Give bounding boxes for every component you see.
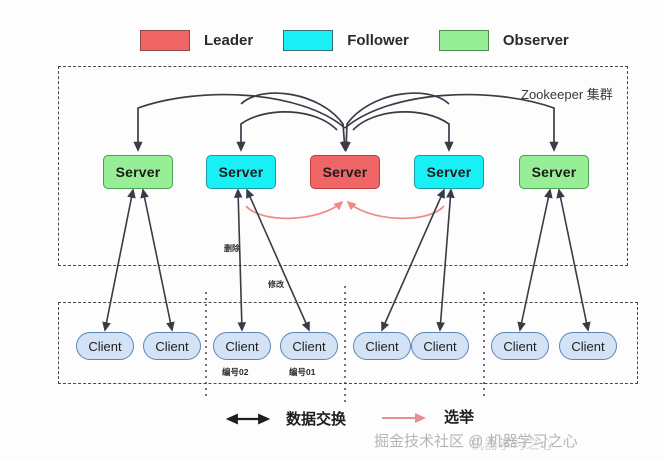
client-label: Client bbox=[225, 339, 258, 354]
double-arrow-icon bbox=[222, 412, 274, 426]
client-label: Client bbox=[423, 339, 456, 354]
legend-label-observer: Observer bbox=[503, 32, 569, 49]
server-label: Server bbox=[219, 164, 264, 180]
server-label: Server bbox=[323, 164, 368, 180]
client-node-8[interactable]: Client bbox=[559, 332, 617, 360]
diagram-canvas: Leader Follower Observer Zookeeper 集群 bbox=[0, 0, 663, 459]
server-node-observer-2[interactable]: Server bbox=[519, 155, 589, 189]
client-node-4[interactable]: Client bbox=[280, 332, 338, 360]
server-node-observer-1[interactable]: Server bbox=[103, 155, 173, 189]
legend-data-exchange: 数据交换 bbox=[222, 408, 346, 429]
server-label: Server bbox=[427, 164, 472, 180]
legend-top: Leader Follower Observer bbox=[140, 30, 599, 51]
right-arrow-icon bbox=[380, 410, 432, 424]
client-node-7[interactable]: Client bbox=[491, 332, 549, 360]
client-label: Client bbox=[292, 339, 325, 354]
server-node-follower-1[interactable]: Server bbox=[206, 155, 276, 189]
client-label: Client bbox=[155, 339, 188, 354]
client-label: Client bbox=[503, 339, 536, 354]
color-swatch-icon-leader bbox=[140, 30, 190, 51]
client-node-2[interactable]: Client bbox=[143, 332, 201, 360]
legend-data-exchange-label: 数据交换 bbox=[286, 408, 346, 429]
client-label: Client bbox=[571, 339, 604, 354]
legend-entry-observer: Observer bbox=[439, 30, 599, 51]
server-node-leader[interactable]: Server bbox=[310, 155, 380, 189]
color-swatch-icon-follower bbox=[283, 30, 333, 51]
legend-election: 选举 bbox=[380, 406, 474, 427]
annotation-modify: 修改 bbox=[268, 279, 284, 290]
legend-entry-leader: Leader bbox=[140, 30, 283, 51]
server-label: Server bbox=[116, 164, 161, 180]
legend-entry-follower: Follower bbox=[283, 30, 439, 51]
client-node-3[interactable]: Client bbox=[213, 332, 271, 360]
client-label: Client bbox=[365, 339, 398, 354]
client-tag-3: 编号02 bbox=[222, 366, 248, 378]
client-node-6[interactable]: Client bbox=[411, 332, 469, 360]
legend-label-leader: Leader bbox=[204, 32, 253, 49]
annotation-delete: 删除 bbox=[224, 243, 240, 254]
client-node-1[interactable]: Client bbox=[76, 332, 134, 360]
server-label: Server bbox=[532, 164, 577, 180]
client-node-5[interactable]: Client bbox=[353, 332, 411, 360]
legend-label-follower: Follower bbox=[347, 32, 409, 49]
legend-election-label: 选举 bbox=[444, 406, 474, 427]
cluster-caption: Zookeeper 集群 bbox=[521, 84, 613, 103]
client-tag-4: 编号01 bbox=[289, 366, 315, 378]
client-label: Client bbox=[88, 339, 121, 354]
color-swatch-icon-observer bbox=[439, 30, 489, 51]
watermark-overlay-text: 机器学习之心 bbox=[470, 434, 554, 454]
server-node-follower-2[interactable]: Server bbox=[414, 155, 484, 189]
